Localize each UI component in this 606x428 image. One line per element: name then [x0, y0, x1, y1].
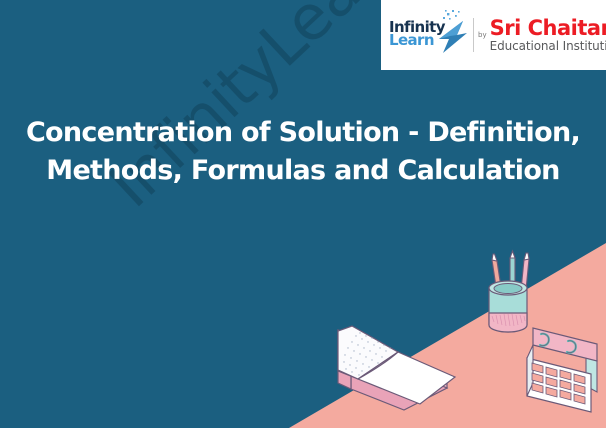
- sri-chaitanya-logo: Sri Chaitanya Educational Institutions: [490, 17, 606, 53]
- infinity-learn-logo: Infinity Learn: [387, 9, 471, 61]
- desk-calendar-icon: [527, 328, 597, 412]
- pencil-middle: [510, 251, 515, 300]
- logo-divider: [473, 18, 474, 52]
- open-book-icon: [338, 326, 455, 410]
- sri-chaitanya-name: Sri Chaitanya: [490, 17, 606, 39]
- brand-logo-card[interactable]: Infinity Learn by Sri Chaitanya Educatio…: [381, 0, 606, 70]
- page-title: Concentration of Solution - Definition, …: [0, 114, 606, 191]
- infinity-learn-wordmark: Infinity Learn: [389, 20, 445, 48]
- pencil-cup-icon: [489, 251, 529, 332]
- logo-by-label: by: [478, 31, 487, 39]
- pencil-left: [492, 254, 503, 300]
- course-banner: InfinityLearn.com: [0, 0, 606, 428]
- pencil-right: [520, 253, 529, 300]
- sri-chaitanya-subtitle: Educational Institutions: [490, 40, 606, 53]
